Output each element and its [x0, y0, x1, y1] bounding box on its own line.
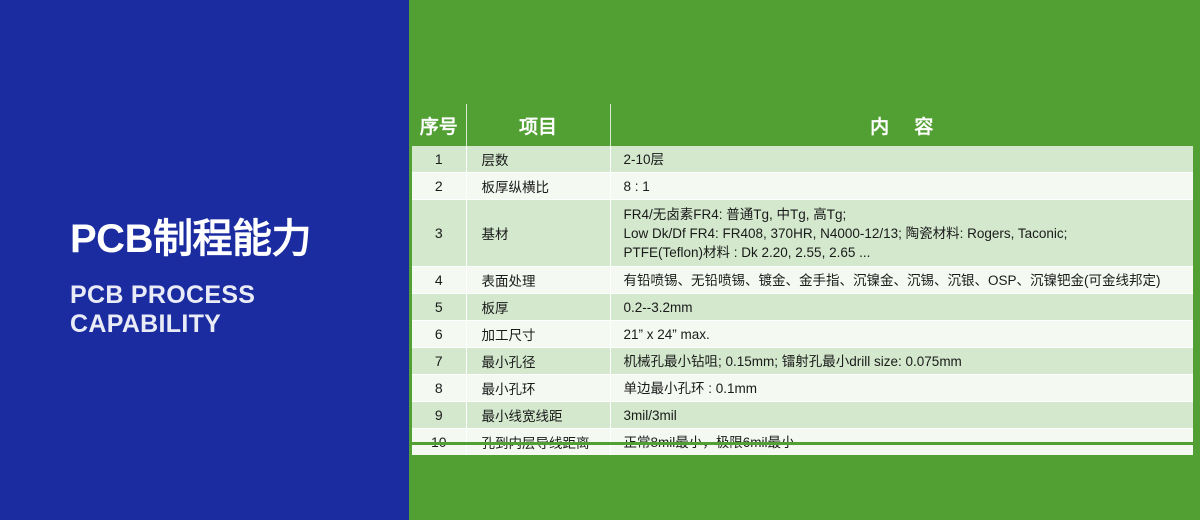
- column-header-item: 项目: [466, 104, 610, 146]
- column-header-no: 序号: [412, 104, 466, 146]
- row-item-cell: 基材: [466, 200, 610, 267]
- row-content-cell: 2-10层: [610, 146, 1193, 173]
- row-item-cell: 表面处理: [466, 267, 610, 294]
- table-row: 5板厚0.2--3.2mm: [412, 294, 1193, 321]
- table-row: 7最小孔径机械孔最小钻咀; 0.15mm; 镭射孔最小drill size: 0…: [412, 348, 1193, 375]
- row-content-line: 有铅喷锡、无铅喷锡、镀金、金手指、沉镍金、沉锡、沉银、OSP、沉镍钯金(可金线邦…: [624, 271, 1194, 290]
- row-content-cell: 0.2--3.2mm: [610, 294, 1193, 321]
- table-row: 9最小线宽线距3mil/3mil: [412, 402, 1193, 429]
- row-number-cell: 3: [412, 200, 466, 267]
- table-row: 2板厚纵横比8 : 1: [412, 173, 1193, 200]
- row-number-cell: 1: [412, 146, 466, 173]
- page-title: PCB制程能力: [70, 216, 400, 262]
- table-row: 8最小孔环单边最小孔环 : 0.1mm: [412, 375, 1193, 402]
- table-bottom-rule: [412, 442, 1193, 445]
- left-title-panel: PCB制程能力 PCB PROCESS CAPABILITY: [0, 0, 409, 520]
- row-number-cell: 7: [412, 348, 466, 375]
- row-number-cell: 2: [412, 173, 466, 200]
- row-content-cell: FR4/无卤素FR4: 普通Tg, 中Tg, 高Tg;Low Dk/Df FR4…: [610, 200, 1193, 267]
- row-content-cell: 机械孔最小钻咀; 0.15mm; 镭射孔最小drill size: 0.075m…: [610, 348, 1193, 375]
- row-item-cell: 板厚纵横比: [466, 173, 610, 200]
- row-item-cell: 板厚: [466, 294, 610, 321]
- row-content-cell: 21” x 24” max.: [610, 321, 1193, 348]
- row-number-cell: 6: [412, 321, 466, 348]
- row-number-cell: 5: [412, 294, 466, 321]
- row-content-cell: 8 : 1: [610, 173, 1193, 200]
- row-content-line: Low Dk/Df FR4: FR408, 370HR, N4000-12/13…: [624, 224, 1194, 243]
- column-header-content: 内 容: [610, 104, 1193, 146]
- row-number-cell: 9: [412, 402, 466, 429]
- row-content-line: 3mil/3mil: [624, 406, 1194, 425]
- pcb-capability-table: 序号 项目 内 容 1层数2-10层2板厚纵横比8 : 13基材FR4/无卤素F…: [412, 104, 1193, 455]
- row-number-cell: 4: [412, 267, 466, 294]
- column-header-content-label: 内 容: [860, 117, 943, 138]
- row-number-cell: 8: [412, 375, 466, 402]
- table-row: 3基材FR4/无卤素FR4: 普通Tg, 中Tg, 高Tg;Low Dk/Df …: [412, 200, 1193, 267]
- row-content-line: 8 : 1: [624, 177, 1194, 196]
- row-content-cell: 3mil/3mil: [610, 402, 1193, 429]
- page-subtitle-line-2: CAPABILITY: [70, 310, 400, 339]
- row-content-cell: 单边最小孔环 : 0.1mm: [610, 375, 1193, 402]
- row-content-line: 机械孔最小钻咀; 0.15mm; 镭射孔最小drill size: 0.075m…: [624, 352, 1194, 371]
- row-item-cell: 最小孔环: [466, 375, 610, 402]
- table-row: 6加工尺寸21” x 24” max.: [412, 321, 1193, 348]
- row-content-line: 单边最小孔环 : 0.1mm: [624, 379, 1194, 398]
- table-header: 序号 项目 内 容: [412, 104, 1193, 146]
- row-item-cell: 层数: [466, 146, 610, 173]
- page-subtitle: PCB PROCESS CAPABILITY: [70, 281, 400, 339]
- row-content-cell: 有铅喷锡、无铅喷锡、镀金、金手指、沉镍金、沉锡、沉银、OSP、沉镍钯金(可金线邦…: [610, 267, 1193, 294]
- page-subtitle-line-1: PCB PROCESS: [70, 281, 400, 310]
- table-row: 1层数2-10层: [412, 146, 1193, 173]
- row-item-cell: 最小孔径: [466, 348, 610, 375]
- pcb-capability-slide: PCB制程能力 PCB PROCESS CAPABILITY 序号 项目 内 容: [0, 0, 1200, 520]
- right-content-panel: 序号 项目 内 容 1层数2-10层2板厚纵横比8 : 13基材FR4/无卤素F…: [409, 0, 1200, 520]
- row-content-line: FR4/无卤素FR4: 普通Tg, 中Tg, 高Tg;: [624, 205, 1194, 224]
- row-item-cell: 最小线宽线距: [466, 402, 610, 429]
- row-content-line: 21” x 24” max.: [624, 325, 1194, 344]
- table-header-row: 序号 项目 内 容: [412, 104, 1193, 146]
- title-block: PCB制程能力 PCB PROCESS CAPABILITY: [70, 216, 400, 339]
- row-content-line: PTFE(Teflon)材料 : Dk 2.20, 2.55, 2.65 ...: [624, 243, 1194, 262]
- table-body: 1层数2-10层2板厚纵横比8 : 13基材FR4/无卤素FR4: 普通Tg, …: [412, 146, 1193, 455]
- table-row: 4表面处理有铅喷锡、无铅喷锡、镀金、金手指、沉镍金、沉锡、沉银、OSP、沉镍钯金…: [412, 267, 1193, 294]
- row-item-cell: 加工尺寸: [466, 321, 610, 348]
- row-content-line: 2-10层: [624, 150, 1194, 169]
- row-content-line: 0.2--3.2mm: [624, 298, 1194, 317]
